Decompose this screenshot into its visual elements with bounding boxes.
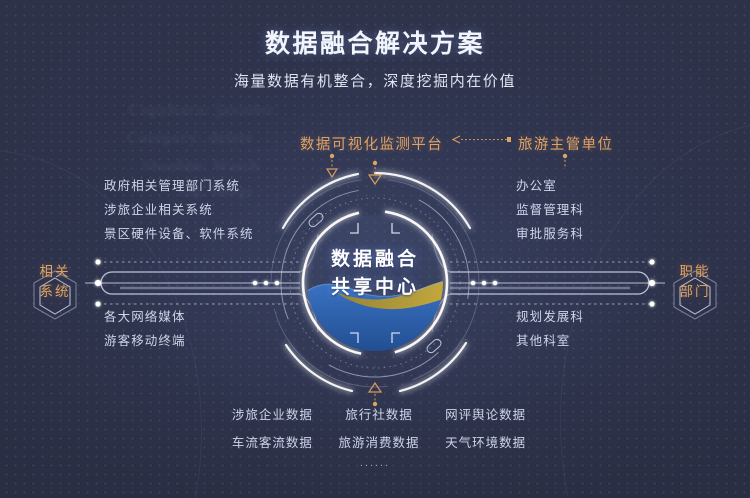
list-item: 政府相关管理部门系统 bbox=[104, 174, 254, 198]
bg-code-line-2: Category: delete bbox=[126, 128, 253, 148]
center-line-2: 共享中心 bbox=[295, 274, 455, 302]
list-item: 审批服务科 bbox=[516, 222, 584, 246]
page-title: 数据融合解决方案 bbox=[0, 24, 750, 60]
hexagon-right-label: 职能 部门 bbox=[654, 236, 736, 328]
top-right-dropper bbox=[563, 154, 567, 168]
bg-code-line-1: Copybara: javadoc bbox=[128, 100, 276, 120]
hexagon-right-line2: 部门 bbox=[680, 282, 711, 302]
left-arrow-dotted-icon bbox=[453, 136, 511, 143]
list-item: 涉旅企业数据 bbox=[224, 404, 321, 423]
list-item: 各大网络媒体 bbox=[104, 305, 186, 329]
list-item: 景区硬件设备、软件系统 bbox=[104, 222, 254, 246]
hexagon-right-line1: 职能 bbox=[680, 262, 711, 282]
label-visualization-platform[interactable]: 数据可视化监测平台 bbox=[300, 133, 443, 154]
circle-bottom-marker bbox=[369, 383, 381, 406]
right-top-list: 办公室 监督管理科 审批服务科 bbox=[516, 174, 584, 246]
hexagon-left-label: 相关 系统 bbox=[14, 236, 96, 328]
circle-top-marker bbox=[369, 161, 381, 184]
center-hub-label: 数据融合 共享中心 bbox=[295, 246, 455, 302]
bottom-data-grid: 涉旅企业数据 旅行社数据 网评舆论数据 车流客流数据 旅游消费数据 天气环境数据 bbox=[224, 404, 534, 451]
list-item: 办公室 bbox=[516, 174, 584, 198]
page-subtitle: 海量数据有机整合，深度挖掘内在价值 bbox=[0, 70, 750, 91]
hexagon-related-systems[interactable]: 相关 系统 bbox=[14, 236, 96, 328]
list-item: 规划发展科 bbox=[516, 305, 584, 329]
left-bottom-list: 各大网络媒体 游客移动终端 bbox=[104, 305, 186, 353]
list-item: 旅行社数据 bbox=[331, 404, 428, 423]
list-item: 其他科室 bbox=[516, 329, 584, 353]
right-bottom-list: 规划发展科 其他科室 bbox=[516, 305, 584, 353]
left-top-list: 政府相关管理部门系统 涉旅企业相关系统 景区硬件设备、软件系统 bbox=[104, 174, 254, 246]
list-item: 天气环境数据 bbox=[437, 432, 534, 451]
hexagon-functional-departments[interactable]: 职能 部门 bbox=[654, 236, 736, 328]
list-item: 游客移动终端 bbox=[104, 329, 186, 353]
list-item: 车流客流数据 bbox=[224, 432, 321, 451]
hexagon-left-line2: 系统 bbox=[40, 282, 71, 302]
top-left-dropper bbox=[327, 154, 337, 177]
hexagon-left-line1: 相关 bbox=[40, 262, 71, 282]
center-line-1: 数据融合 bbox=[295, 246, 455, 274]
list-item: 监督管理科 bbox=[516, 198, 584, 222]
list-item: 旅游消费数据 bbox=[331, 432, 428, 451]
label-tourism-authority[interactable]: 旅游主管单位 bbox=[518, 133, 613, 154]
list-item: 涉旅企业相关系统 bbox=[104, 198, 254, 222]
list-item: 网评舆论数据 bbox=[437, 404, 534, 423]
bottom-ellipsis: ...... bbox=[0, 457, 750, 469]
infographic-canvas: Copybara: javadoc Category: delete Shoul… bbox=[0, 0, 750, 498]
